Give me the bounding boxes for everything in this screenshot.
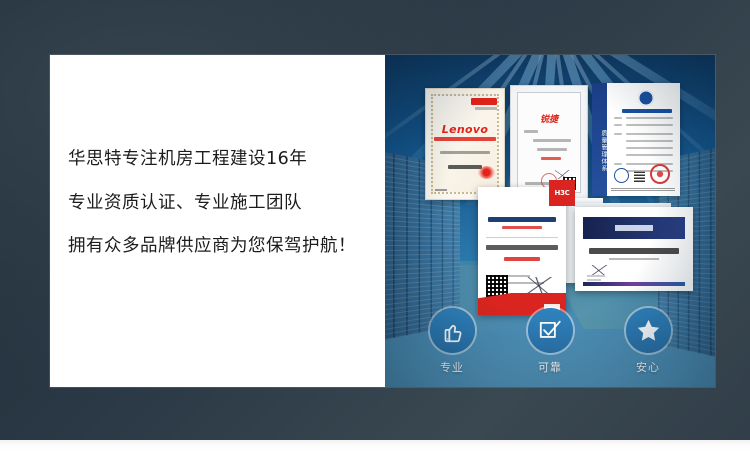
lenovo-certificate: Lenovo (425, 88, 505, 200)
iso-sidebar-text: 质量管理体系 (592, 83, 607, 196)
badge-reassuring[interactable]: 安心 (626, 308, 671, 375)
headline-panel: 华思特专注机房工程建设16年 专业资质认证、专业施工团队 拥有众多品牌供应商为您… (50, 55, 385, 387)
h3c-title-line (488, 217, 556, 222)
h3c-partner-certificate: H3C (478, 187, 566, 315)
landscape-certificate (575, 207, 693, 291)
headline-line-2: 专业资质认证、专业施工团队 (68, 195, 375, 213)
lenovo-brand-text: Lenovo (426, 123, 504, 136)
headline-block: 华思特专注机房工程建设16年 专业资质认证、专业施工团队 拥有众多品牌供应商为您… (68, 151, 375, 256)
badge-label: 可靠 (538, 359, 562, 375)
signature-mark (587, 265, 611, 275)
red-seal-icon (650, 164, 670, 184)
iso-emblem-icon (638, 90, 654, 106)
h3c-company-line (486, 245, 558, 250)
cqc-mark-icon (614, 168, 629, 183)
banner-stage: 华思特专注机房工程建设16年 专业资质认证、专业施工团队 拥有众多品牌供应商为您… (0, 0, 750, 451)
photo-panel: Lenovo 锐捷 质量管理体系 (385, 55, 715, 387)
trust-badges: 专业 可靠 (385, 308, 715, 375)
badge-reliable[interactable]: 可靠 (528, 308, 573, 375)
promo-card: 华思特专注机房工程建设16年 专业资质认证、专业施工团队 拥有众多品牌供应商为您… (50, 55, 715, 387)
signature-mark (524, 277, 554, 293)
checkbox-check-icon (528, 308, 573, 353)
badge-label: 安心 (636, 359, 660, 375)
star-icon (626, 308, 671, 353)
headline-line-3: 拥有众多品牌供应商为您保驾护航！ (68, 238, 375, 256)
thumbs-up-icon (430, 308, 475, 353)
h3c-logo: H3C (549, 180, 575, 206)
h3c-role-line (504, 257, 540, 261)
headline-line-1: 华思特专注机房工程建设16年 (68, 151, 375, 169)
page-bottom-strip (0, 440, 750, 451)
iso-certificate: 质量管理体系 (592, 83, 680, 196)
company-name-line (589, 248, 679, 254)
ruijie-brand-text: 锐捷 (511, 112, 587, 125)
lenovo-seal-icon (478, 166, 495, 179)
barcode-icon (634, 171, 645, 182)
badge-label: 专业 (440, 359, 464, 375)
badge-professional[interactable]: 专业 (430, 308, 475, 375)
